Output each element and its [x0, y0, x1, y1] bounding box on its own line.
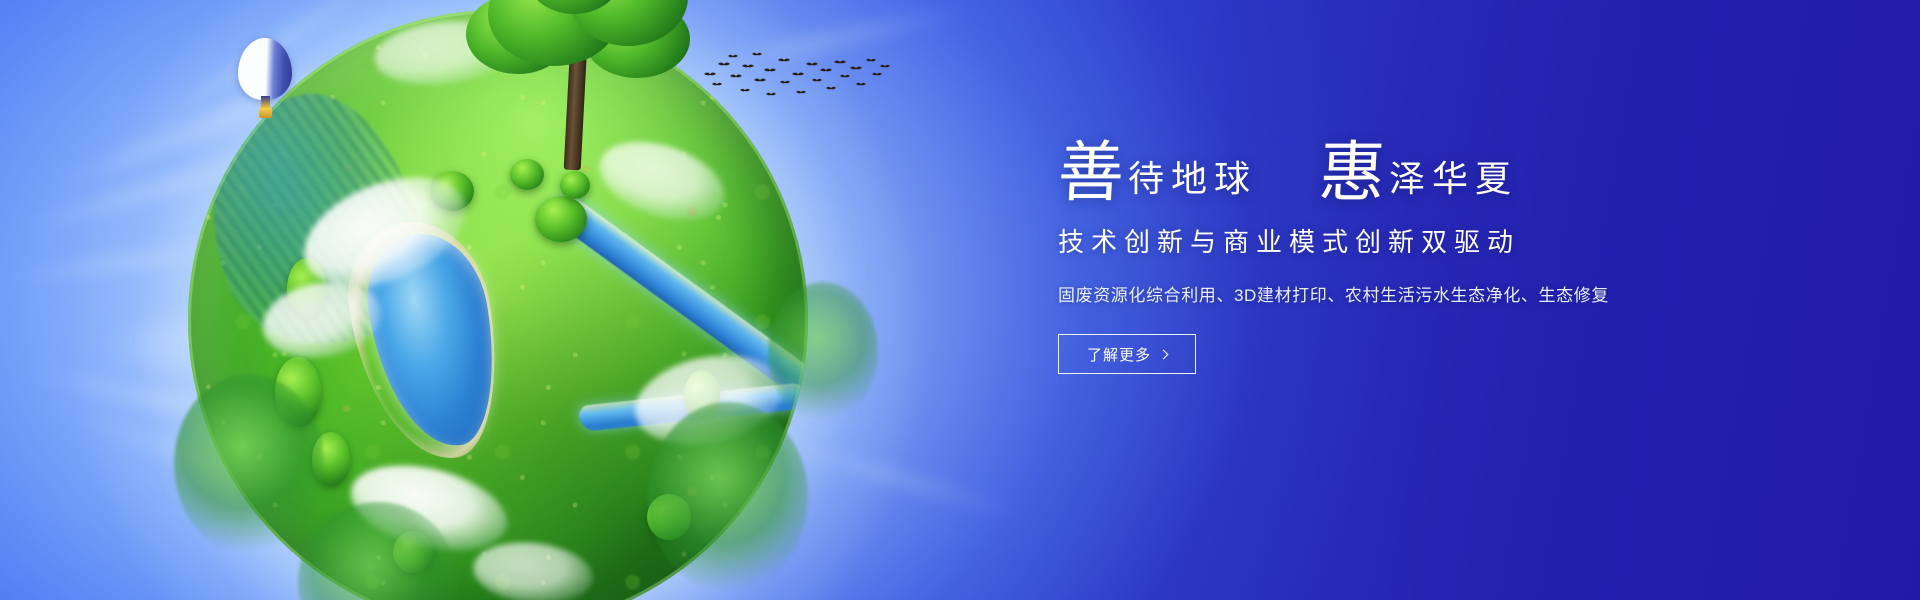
balloon-envelope	[238, 38, 292, 100]
headline-secondary-1: 待地球	[1128, 162, 1257, 198]
hero-banner: 善 待地球 惠 泽华夏 技术创新与商业模式创新双驱动 固废资源化综合利用、3D建…	[0, 0, 1920, 600]
side-tree-icon	[648, 402, 808, 592]
hot-air-balloon-icon	[238, 38, 298, 130]
side-tree-icon	[768, 282, 878, 422]
balloon-basket	[259, 108, 272, 118]
headline-primary-char-1: 善	[1056, 140, 1125, 206]
banner-description: 固废资源化综合利用、3D建材打印、农村生活污水生态净化、生态修复	[1058, 281, 1758, 306]
hero-tree-icon	[464, 0, 694, 176]
learn-more-button[interactable]: 了解更多	[1058, 334, 1196, 374]
side-tree-icon	[174, 374, 324, 554]
chevron-right-icon	[1159, 349, 1169, 359]
banner-subtitle: 技术创新与商业模式创新双驱动	[1058, 222, 1758, 259]
headline: 善 待地球 惠 泽华夏	[1058, 140, 1758, 206]
headline-secondary-2: 泽华夏	[1389, 162, 1518, 198]
banner-content: 善 待地球 惠 泽华夏 技术创新与商业模式创新双驱动 固废资源化综合利用、3D建…	[1058, 140, 1758, 374]
learn-more-label: 了解更多	[1087, 344, 1151, 365]
headline-primary-char-2: 惠	[1317, 140, 1386, 206]
balloon-neck	[261, 96, 270, 108]
bird-flock-icon	[700, 48, 890, 110]
